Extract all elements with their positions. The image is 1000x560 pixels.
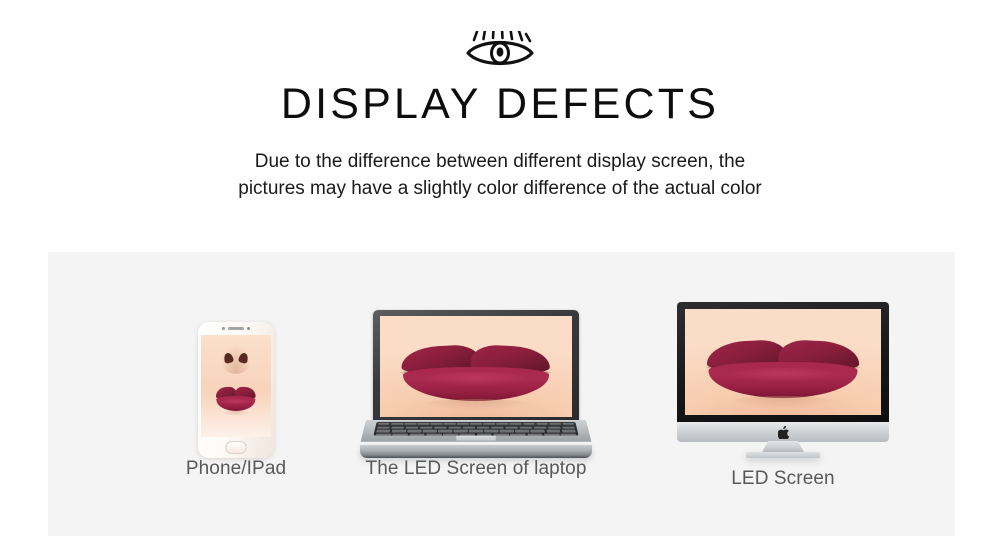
keyboard-key <box>406 426 419 428</box>
keyboard-key <box>561 430 575 432</box>
phone-stage <box>136 322 336 458</box>
keyboard-key <box>409 434 424 436</box>
laptop-lid <box>373 310 579 426</box>
keyboard-key <box>485 430 499 432</box>
keyboard-key <box>438 430 452 432</box>
keyboard-key <box>519 426 532 428</box>
keyboard-key <box>391 423 403 425</box>
laptop-stage <box>316 310 636 458</box>
device-column-phone: Phone/IPad <box>136 252 336 536</box>
lips-artwork <box>380 316 572 417</box>
keyboard-key <box>497 423 509 425</box>
laptop-keyboard[interactable] <box>373 422 578 436</box>
lower-lip <box>403 367 549 401</box>
page-subtitle: Due to the difference between different … <box>150 148 850 203</box>
device-column-laptop: The LED Screen of laptop <box>316 252 636 536</box>
lips-artwork <box>210 374 262 419</box>
keyboard-key <box>515 430 529 432</box>
laptop-trackpad[interactable] <box>456 436 496 441</box>
keyboard-key <box>562 423 574 425</box>
keyboard-key <box>431 423 443 425</box>
eye-icon <box>464 31 536 71</box>
laptop-base <box>360 420 592 458</box>
phone-home-button[interactable] <box>226 441 247 454</box>
laptop-screen <box>380 316 572 417</box>
subtitle-line-2: pictures may have a slightly color diffe… <box>150 175 850 203</box>
keyboard-key <box>531 430 545 432</box>
keyboard-key <box>544 434 560 436</box>
lip-shadow <box>726 396 840 409</box>
keyboard-key <box>454 430 468 432</box>
keyboard-key <box>375 434 391 436</box>
keyboard-key <box>510 423 522 425</box>
caption-phone: Phone/IPad <box>136 458 336 480</box>
keyboard-key <box>549 423 561 425</box>
keyboard-key <box>377 426 390 428</box>
keyboard-key <box>562 426 575 428</box>
keyboard-key <box>483 423 495 425</box>
imac-chin <box>677 422 889 442</box>
phone-sensor-icon <box>222 327 225 330</box>
keyboard-key <box>444 423 456 425</box>
lower-lip <box>709 362 858 398</box>
phone-speaker-grille <box>228 327 244 330</box>
keyboard-key <box>392 430 406 432</box>
lip-shadow <box>221 411 251 416</box>
keyboard-key <box>426 434 441 436</box>
imac-screen <box>685 309 881 415</box>
caption-imac: LED Screen <box>618 468 948 490</box>
page-header: DISPLAY DEFECTS Due to the difference be… <box>0 0 1000 203</box>
keyboard-key <box>448 426 461 428</box>
laptop-key-deck <box>361 420 592 442</box>
page-title: DISPLAY DEFECTS <box>0 80 1000 130</box>
lips-artwork <box>685 309 881 415</box>
keyboard-key <box>470 423 482 425</box>
lip-shadow <box>420 399 531 411</box>
keyboard-key <box>523 423 535 425</box>
desktop-monitor-device <box>677 302 889 458</box>
phone-top-bezel <box>198 322 274 335</box>
keyboard-key <box>407 430 421 432</box>
lower-lip <box>216 396 255 411</box>
keyboard-key <box>420 426 433 428</box>
caption-laptop: The LED Screen of laptop <box>316 458 636 480</box>
keyboard-key <box>376 430 390 432</box>
keyboard-key <box>548 426 561 428</box>
device-column-imac: LED Screen <box>618 252 948 536</box>
phone-front-camera-icon <box>247 327 250 330</box>
keyboard-key <box>457 423 469 425</box>
keyboard-key <box>500 430 514 432</box>
smartphone-device <box>198 322 274 458</box>
laptop-front-edge <box>360 445 592 458</box>
subtitle-line-1: Due to the difference between different … <box>150 148 850 176</box>
devices-row: Phone/IPad <box>48 252 955 536</box>
keyboard-key <box>561 434 577 436</box>
keyboard-key <box>392 434 408 436</box>
keyboard-key <box>378 423 390 425</box>
phone-lips-art <box>210 374 262 419</box>
imac-stage <box>618 302 948 458</box>
imac-stand-foot <box>746 452 820 458</box>
laptop-device <box>360 310 592 458</box>
keyboard-key <box>423 430 437 432</box>
keyboard-key <box>546 430 560 432</box>
eye-icon-wrapper <box>0 30 1000 72</box>
keyboard-key <box>418 423 430 425</box>
keyboard-key <box>463 426 476 428</box>
phone-screen <box>201 335 271 437</box>
phone-screen-image <box>201 335 271 437</box>
keyboard-key <box>391 426 404 428</box>
nose-art <box>222 349 250 365</box>
keyboard-key <box>491 426 504 428</box>
keyboard-key <box>505 426 518 428</box>
keyboard-key <box>469 430 483 432</box>
apple-logo-icon <box>778 426 789 439</box>
keyboard-key <box>477 426 490 428</box>
keyboard-key <box>510 434 525 436</box>
keyboard-key <box>494 434 509 436</box>
imac-bezel <box>677 302 889 430</box>
keyboard-key <box>536 423 548 425</box>
keyboard-key <box>404 423 416 425</box>
keyboard-key <box>533 426 546 428</box>
keyboard-key <box>434 426 447 428</box>
keyboard-key <box>527 434 542 436</box>
devices-panel: Phone/IPad <box>48 252 955 536</box>
